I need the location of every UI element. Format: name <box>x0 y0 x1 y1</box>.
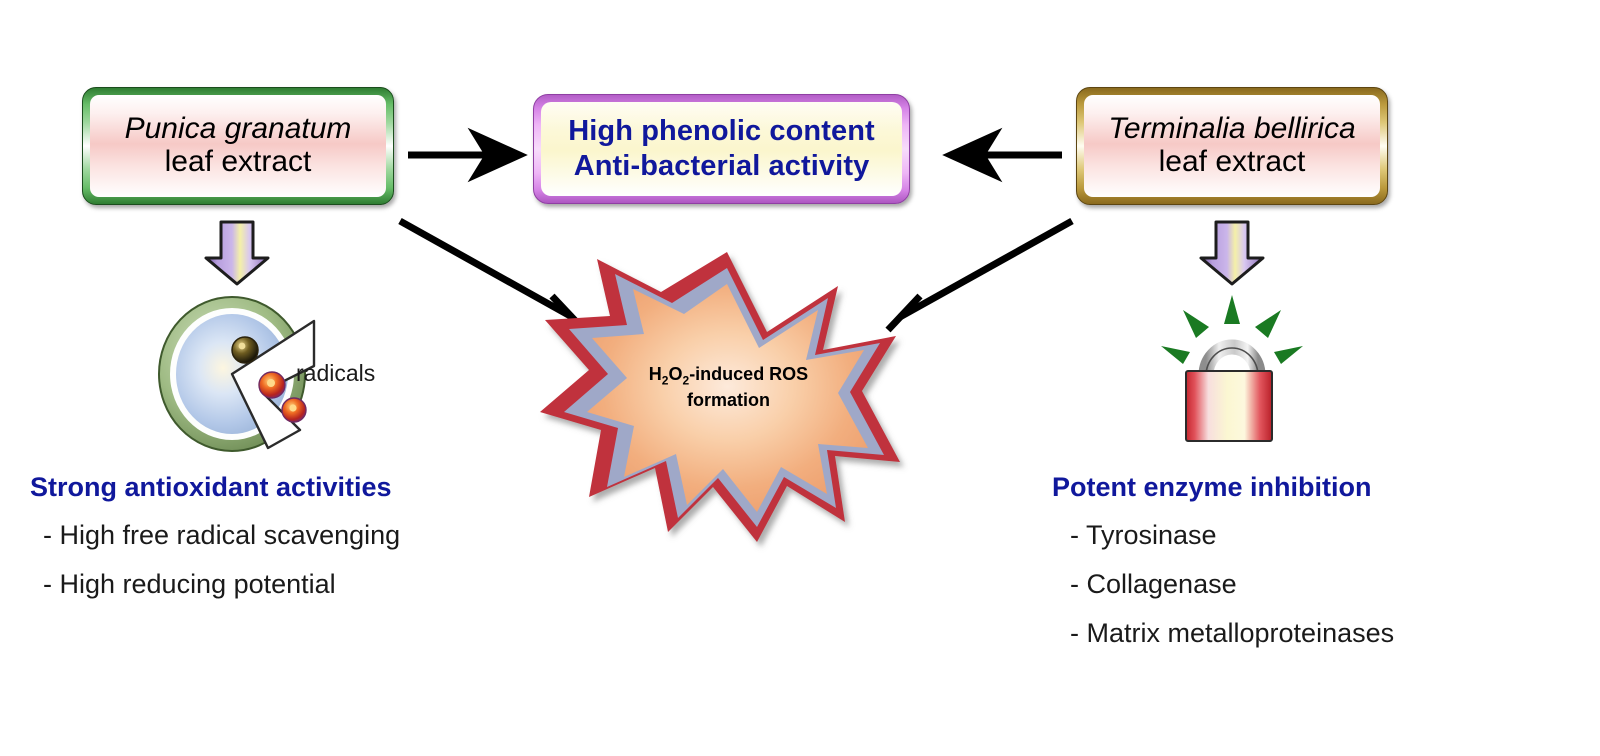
burst-line1: H2O2-induced ROS <box>649 364 808 384</box>
left-panel-item-1: - High reducing potential <box>43 569 336 600</box>
right-panel-heading: Potent enzyme inhibition <box>1052 472 1372 503</box>
pacman-scavenger-icon <box>159 297 314 451</box>
box-punica-granatum[interactable]: Punica granatum leaf extract <box>82 87 394 205</box>
box-punica-inner: Punica granatum leaf extract <box>90 95 386 197</box>
left-panel-heading: Strong antioxidant activities <box>30 472 392 503</box>
box-center-line2: Anti-bacterial activity <box>574 149 870 184</box>
down-arrow-left <box>206 222 268 284</box>
burst-line2: formation <box>687 390 770 410</box>
ros-burst-label: H2O2-induced ROS formation <box>596 363 861 412</box>
right-panel-item-1: - Collagenase <box>1070 569 1237 600</box>
box-high-phenolic-content[interactable]: High phenolic content Anti-bacterial act… <box>533 94 910 204</box>
ros-burst-shape <box>540 252 900 542</box>
down-arrow-right <box>1201 222 1263 284</box>
box-terminalia-species: Terminalia bellirica <box>1108 113 1355 145</box>
box-terminalia-inner: Terminalia bellirica leaf extract <box>1084 95 1380 197</box>
radicals-label: radicals <box>296 360 375 387</box>
inhibition-line-punica <box>400 221 584 330</box>
box-terminalia-subtitle: leaf extract <box>1159 145 1306 179</box>
diagram-canvas: Punica granatum leaf extract High phenol… <box>0 0 1600 756</box>
box-punica-subtitle: leaf extract <box>165 145 312 179</box>
right-panel-item-2: - Matrix metalloproteinases <box>1070 618 1394 649</box>
box-terminalia-bellirica[interactable]: Terminalia bellirica leaf extract <box>1076 87 1388 205</box>
padlock-icon <box>1161 295 1303 441</box>
box-center-inner: High phenolic content Anti-bacterial act… <box>541 102 902 196</box>
right-panel-item-0: - Tyrosinase <box>1070 520 1217 551</box>
inhibition-line-terminalia <box>888 221 1072 330</box>
box-center-line1: High phenolic content <box>568 114 875 149</box>
lock-rays <box>1161 295 1303 364</box>
box-punica-species: Punica granatum <box>125 113 352 145</box>
left-panel-item-0: - High free radical scavenging <box>43 520 400 551</box>
